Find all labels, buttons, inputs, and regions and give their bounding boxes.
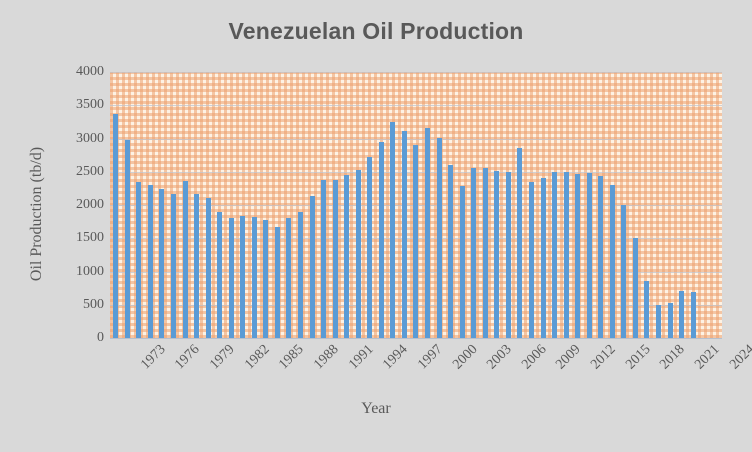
x-axis-tick-label: 1994	[380, 342, 411, 373]
x-axis-tick-label: 1991	[346, 342, 377, 373]
bar-slot[interactable]	[583, 72, 595, 338]
x-axis-tick-label: 1979	[207, 342, 238, 373]
chart-container: Venezuelan Oil Production Oil Production…	[0, 0, 752, 452]
y-axis-tick-label: 1500	[52, 230, 104, 246]
x-axis-tick-label: 2021	[692, 342, 723, 373]
bar[interactable]	[633, 238, 638, 338]
bar[interactable]	[321, 180, 326, 338]
bar-slot[interactable]	[595, 72, 607, 338]
bar-slot[interactable]	[202, 72, 214, 338]
bar[interactable]	[483, 168, 488, 338]
bar-slot[interactable]	[376, 72, 388, 338]
bar-slot[interactable]	[352, 72, 364, 338]
x-axis-tick-label: 2006	[519, 342, 550, 373]
bar-slot[interactable]	[618, 72, 630, 338]
bar-slot[interactable]	[272, 72, 284, 338]
bar[interactable]	[159, 189, 164, 338]
bar-slot[interactable]	[237, 72, 249, 338]
y-axis-tick-label: 2500	[52, 164, 104, 180]
bar-slot[interactable]	[179, 72, 191, 338]
bar-slot[interactable]	[445, 72, 457, 338]
bar[interactable]	[564, 172, 569, 338]
bar[interactable]	[310, 196, 315, 338]
bar[interactable]	[390, 122, 395, 338]
bar-slot[interactable]	[191, 72, 203, 338]
bar-slot[interactable]	[249, 72, 261, 338]
bar-slot[interactable]	[549, 72, 561, 338]
bar[interactable]	[425, 128, 430, 338]
bar-slot[interactable]	[607, 72, 619, 338]
bar[interactable]	[587, 173, 592, 338]
bar-slot[interactable]	[456, 72, 468, 338]
bar-slot[interactable]	[145, 72, 157, 338]
bar-slot[interactable]	[468, 72, 480, 338]
bar-slot[interactable]	[653, 72, 665, 338]
x-axis-tick-label: 1976	[173, 342, 204, 373]
bar-slot[interactable]	[318, 72, 330, 338]
bar[interactable]	[494, 171, 499, 338]
chart-title: Venezuelan Oil Production	[0, 18, 752, 45]
bar[interactable]	[252, 217, 257, 338]
bar[interactable]	[644, 281, 649, 338]
bar-slot[interactable]	[225, 72, 237, 338]
bar-slot[interactable]	[122, 72, 134, 338]
bar[interactable]	[113, 114, 118, 338]
bar-slot[interactable]	[283, 72, 295, 338]
x-axis-tick-label: 1985	[277, 342, 308, 373]
x-axis-title: Year	[0, 400, 752, 418]
bar[interactable]	[275, 227, 280, 338]
x-axis-tick-label: 1982	[242, 342, 273, 373]
bar-slot[interactable]	[110, 72, 122, 338]
bar-slot[interactable]	[537, 72, 549, 338]
bar-slot[interactable]	[364, 72, 376, 338]
y-axis-title: Oil Production (tb/d)	[28, 99, 46, 329]
bar[interactable]	[541, 178, 546, 338]
x-axis-tick-label: 1997	[415, 342, 446, 373]
bar[interactable]	[598, 176, 603, 338]
bar[interactable]	[171, 194, 176, 338]
bar[interactable]	[379, 142, 384, 338]
bar-slot[interactable]	[295, 72, 307, 338]
bar-slot[interactable]	[572, 72, 584, 338]
bar[interactable]	[448, 165, 453, 338]
y-axis-tick-label: 3000	[52, 131, 104, 147]
y-axis-tick-label: 2000	[52, 197, 104, 213]
bar[interactable]	[136, 182, 141, 338]
y-axis-tick-label: 500	[52, 297, 104, 313]
bar[interactable]	[333, 180, 338, 338]
bar[interactable]	[575, 174, 580, 338]
bar[interactable]	[471, 168, 476, 338]
bar[interactable]	[356, 170, 361, 338]
bar[interactable]	[437, 138, 442, 338]
bar-slot[interactable]	[641, 72, 653, 338]
bar[interactable]	[286, 218, 291, 338]
bar[interactable]	[298, 212, 303, 338]
bar-slot[interactable]	[664, 72, 676, 338]
bar[interactable]	[229, 218, 234, 338]
x-axis-tick-label: 2024	[727, 342, 752, 373]
bar[interactable]	[367, 157, 372, 338]
bar[interactable]	[656, 305, 661, 338]
x-axis-line	[110, 338, 722, 339]
bar-slot[interactable]	[676, 72, 688, 338]
bar[interactable]	[691, 292, 696, 338]
bar-slot[interactable]	[687, 72, 699, 338]
bar-slot[interactable]	[306, 72, 318, 338]
bar-slot[interactable]	[329, 72, 341, 338]
x-axis-tick-label: 2000	[450, 342, 481, 373]
bar[interactable]	[679, 291, 684, 338]
bar-slot[interactable]	[260, 72, 272, 338]
bar[interactable]	[517, 148, 522, 338]
y-axis-tick-label: 3500	[52, 97, 104, 113]
bar[interactable]	[402, 131, 407, 338]
bar[interactable]	[183, 181, 188, 338]
bar[interactable]	[668, 303, 673, 338]
bar-slot[interactable]	[560, 72, 572, 338]
y-axis-tick-label: 1000	[52, 264, 104, 280]
x-axis-tick-label: 2018	[658, 342, 689, 373]
bar-slot[interactable]	[480, 72, 492, 338]
y-axis-tick-label: 4000	[52, 64, 104, 80]
bar-slot[interactable]	[433, 72, 445, 338]
bar[interactable]	[125, 140, 130, 338]
bar[interactable]	[194, 194, 199, 338]
bar-slot[interactable]	[341, 72, 353, 338]
plot-area	[110, 72, 722, 338]
bar[interactable]	[344, 175, 349, 338]
bar[interactable]	[263, 220, 268, 338]
bar-series	[110, 72, 722, 338]
x-axis-tick-label: 2015	[623, 342, 654, 373]
bar[interactable]	[413, 145, 418, 338]
bar[interactable]	[217, 212, 222, 338]
x-axis-tick-label: 2009	[554, 342, 585, 373]
bar[interactable]	[552, 172, 557, 338]
bar-slot[interactable]	[503, 72, 515, 338]
x-axis-tick-label: 2003	[484, 342, 515, 373]
y-axis-tick-labels: 05001000150020002500300035004000	[52, 72, 104, 338]
bar[interactable]	[529, 182, 534, 338]
bar[interactable]	[460, 186, 465, 338]
bar-slot[interactable]	[630, 72, 642, 338]
bar[interactable]	[621, 205, 626, 338]
bar-slot[interactable]	[168, 72, 180, 338]
bar[interactable]	[240, 216, 245, 338]
bar-slot[interactable]	[387, 72, 399, 338]
x-axis-tick-labels: 1973197619791982198519881991199419972000…	[110, 342, 722, 398]
bar-slot[interactable]	[491, 72, 503, 338]
bar-slot[interactable]	[422, 72, 434, 338]
bar-slot[interactable]	[514, 72, 526, 338]
bar-slot[interactable]	[214, 72, 226, 338]
bar-slot[interactable]	[156, 72, 168, 338]
bar-slot[interactable]	[710, 72, 722, 338]
bar-slot[interactable]	[526, 72, 538, 338]
x-axis-tick-label: 1973	[138, 342, 169, 373]
x-axis-tick-label: 1988	[311, 342, 342, 373]
bar[interactable]	[506, 172, 511, 338]
x-axis-tick-label: 2012	[588, 342, 619, 373]
bar-slot[interactable]	[133, 72, 145, 338]
bar-slot[interactable]	[399, 72, 411, 338]
bar[interactable]	[610, 185, 615, 338]
bar[interactable]	[206, 198, 211, 338]
y-axis-tick-label: 0	[52, 330, 104, 346]
bar-slot[interactable]	[410, 72, 422, 338]
bar[interactable]	[148, 185, 153, 338]
bar-slot[interactable]	[699, 72, 711, 338]
